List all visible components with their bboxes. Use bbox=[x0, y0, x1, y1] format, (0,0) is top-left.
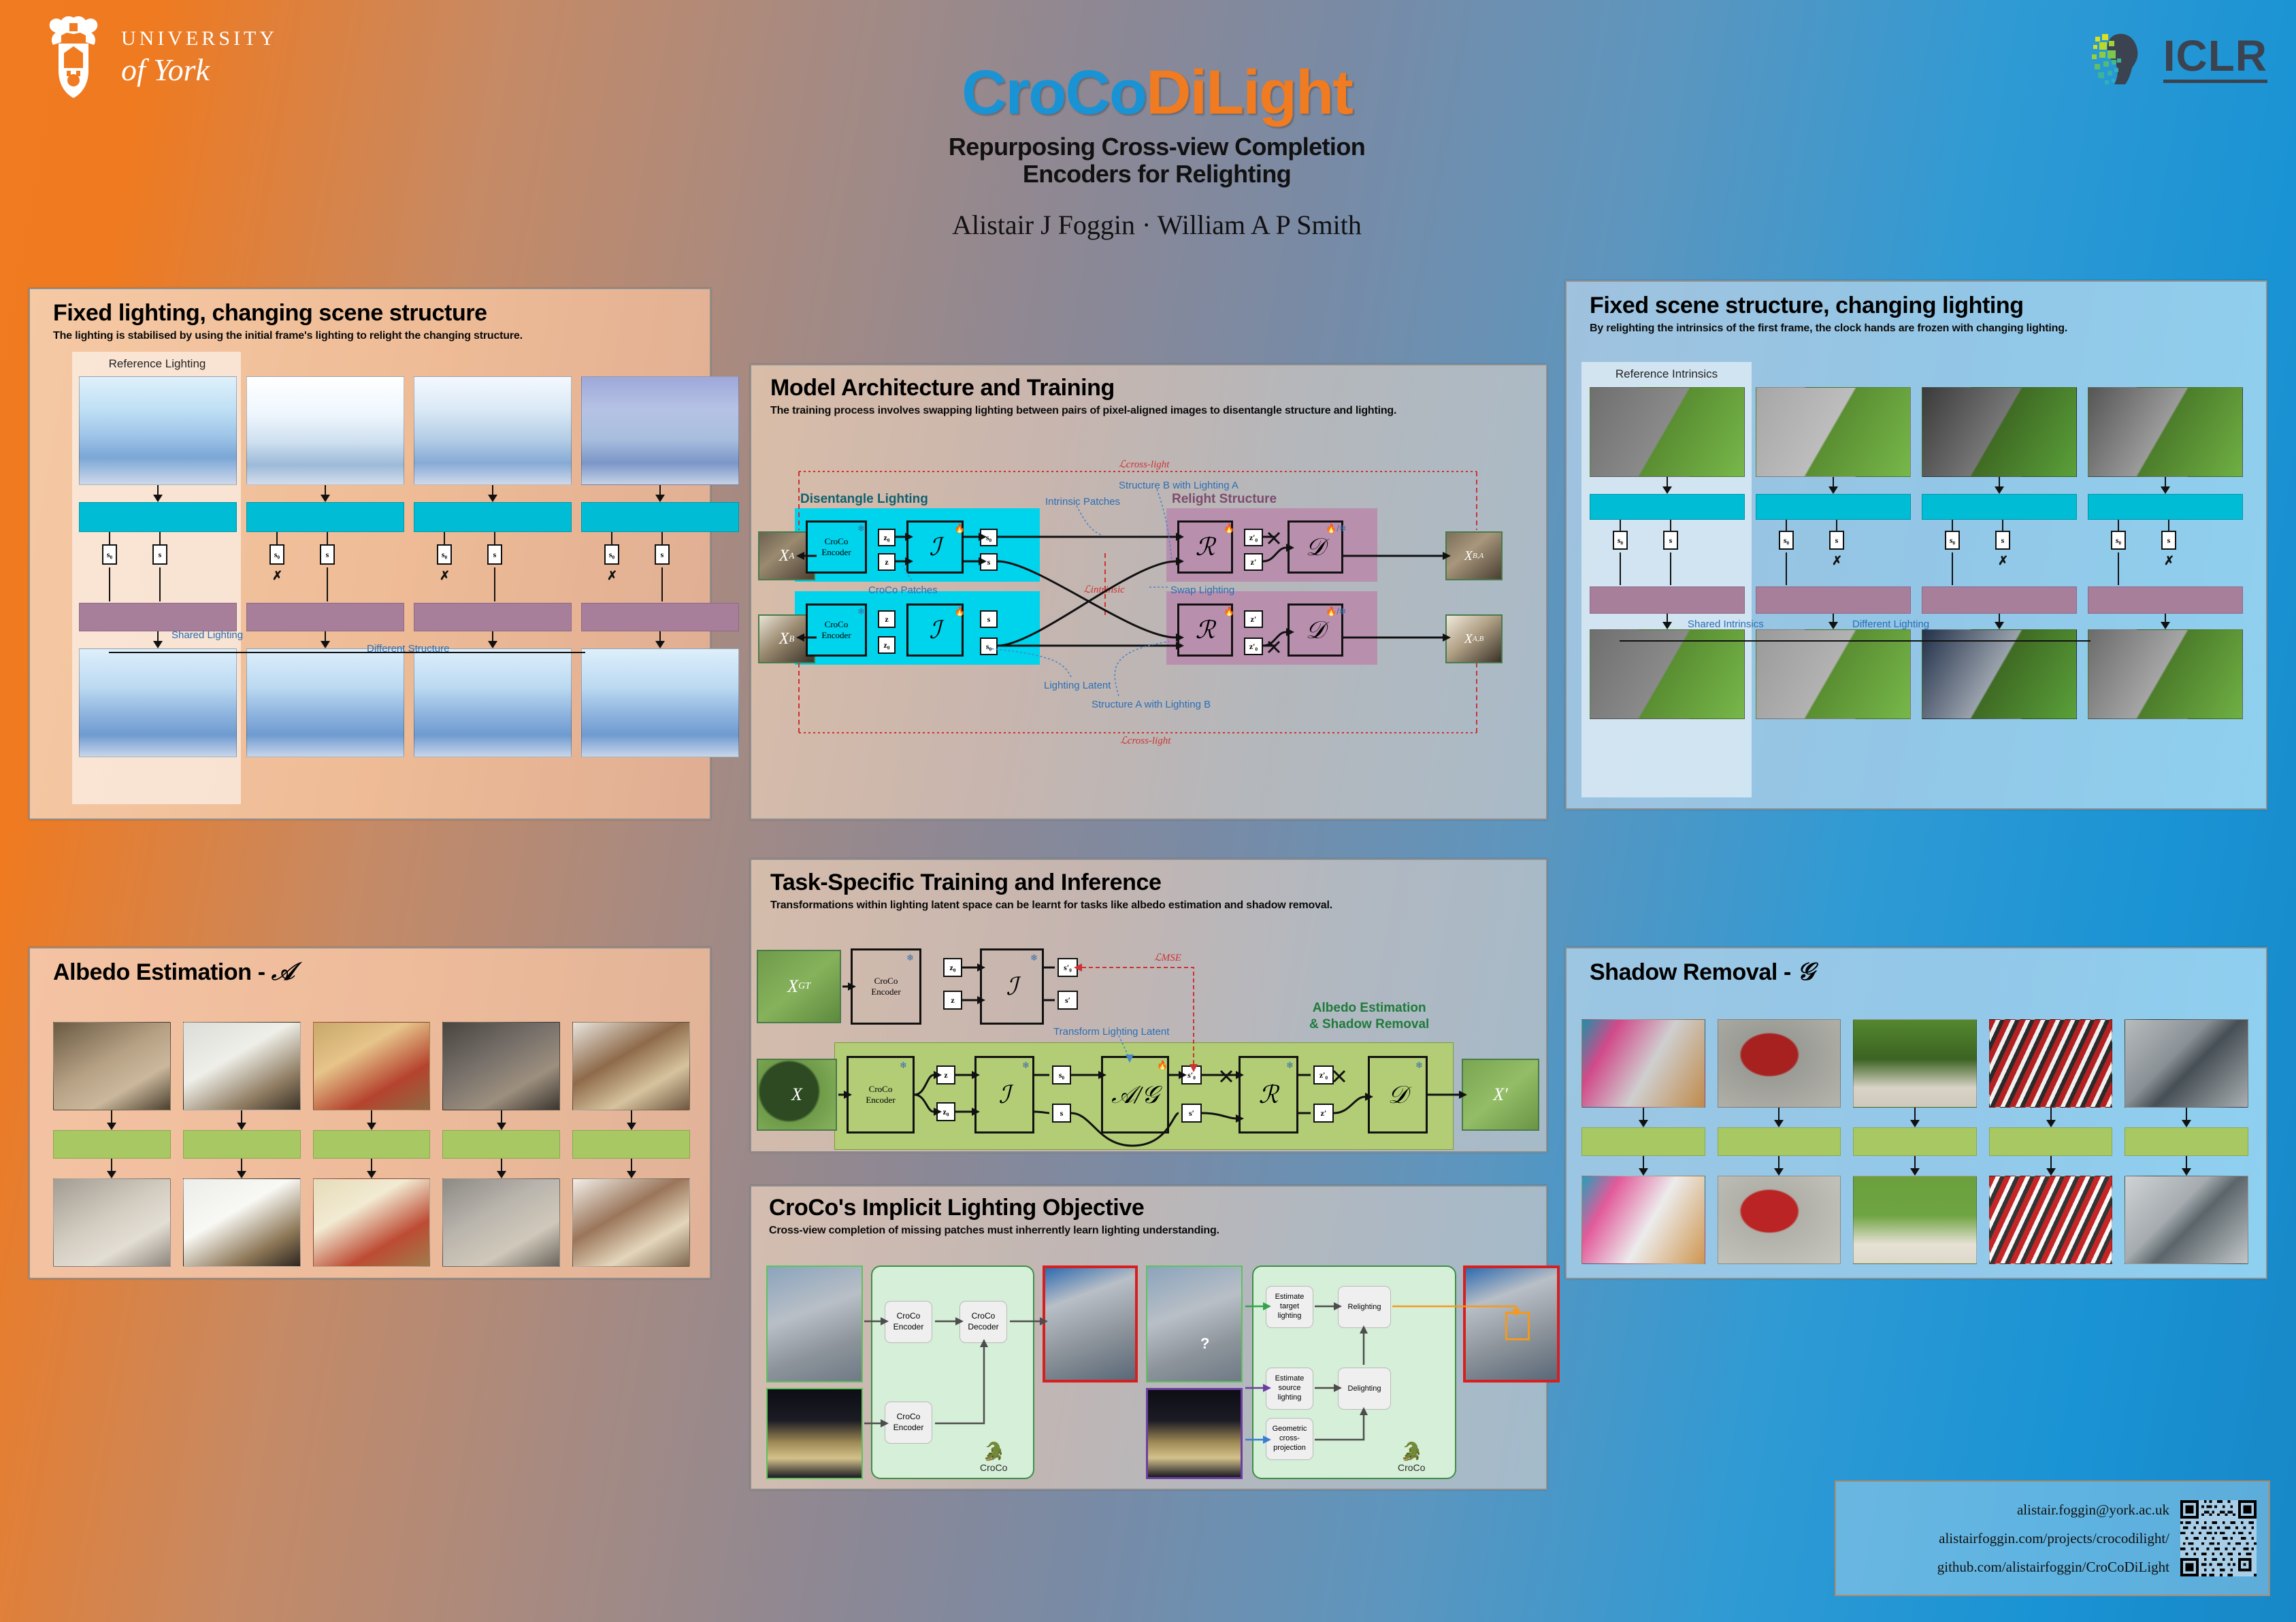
encoder-block bbox=[1756, 494, 1911, 520]
discard-marker: ✗ bbox=[1832, 554, 1842, 568]
panel-shadow-title: Shadow Removal - 𝒢 bbox=[1590, 959, 2266, 985]
input-frame-image bbox=[2088, 387, 2243, 477]
token-s0: s₀ bbox=[437, 544, 452, 565]
token-s0-bottom: s₀ bbox=[980, 638, 998, 655]
token-sprime0-task: s′₀ bbox=[1181, 1065, 1202, 1085]
albedo-input-image bbox=[572, 1022, 690, 1110]
input-image-xgt: XGT bbox=[757, 950, 841, 1023]
reference-lighting-label: Reference Lighting bbox=[79, 357, 235, 371]
token-s-top: s bbox=[980, 553, 998, 571]
label-disentangle-lighting: Disentangle Lighting bbox=[800, 492, 928, 507]
albedo-output-image bbox=[53, 1178, 171, 1267]
encoder-block bbox=[1590, 494, 1745, 520]
token-s0-task: s₀ bbox=[1052, 1065, 1071, 1085]
token-s: s bbox=[152, 544, 167, 565]
shadow-input-image bbox=[1581, 1019, 1705, 1108]
token-s: s bbox=[1829, 531, 1844, 550]
input-frame-image bbox=[1756, 387, 1911, 477]
panel-fixed-structure-title: Fixed scene structure, changing lighting bbox=[1590, 294, 2266, 318]
annotation-shared-lighting: Shared Lighting bbox=[171, 629, 243, 641]
panel-croco-title: CroCo's Implicit Lighting Objective bbox=[769, 1196, 1546, 1221]
token-s: s bbox=[655, 544, 670, 565]
output-frame-image bbox=[1756, 629, 1911, 719]
shadow-model-block bbox=[1581, 1127, 1705, 1156]
input-frame-image bbox=[1590, 387, 1745, 477]
decoder-block bbox=[2088, 586, 2243, 614]
token-s0: s₀ bbox=[102, 544, 117, 565]
shadow-model-block bbox=[2125, 1127, 2248, 1156]
annotation-structure-b-lighting-a: Structure B with Lighting A bbox=[1119, 480, 1239, 491]
shadow-output-image bbox=[1718, 1176, 1841, 1264]
shadow-input-image bbox=[1989, 1019, 2113, 1108]
trainable-icon: 🔥 bbox=[1224, 606, 1234, 617]
discard-marker: ✗ bbox=[2164, 554, 2174, 568]
panel-task-specific: Task-Specific Training and Inference Tra… bbox=[750, 859, 1547, 1153]
albedo-model-block bbox=[183, 1130, 301, 1159]
token-s0: s₀ bbox=[604, 544, 619, 565]
shadow-output-image bbox=[2125, 1176, 2248, 1264]
albedo-output-image bbox=[572, 1178, 690, 1267]
shadow-input-image bbox=[1718, 1019, 1841, 1108]
crocodile-icon: 🐊 bbox=[980, 1441, 1007, 1462]
green-label-line1: Albedo Estimation bbox=[1309, 1000, 1429, 1016]
output-frame-image bbox=[2088, 629, 2243, 719]
university-crest-icon bbox=[41, 14, 106, 101]
loss-cross-light-top: ℒcross-light bbox=[1119, 458, 1169, 471]
output-image-xba: XB,A bbox=[1445, 531, 1503, 580]
shadow-output-image bbox=[1853, 1176, 1977, 1264]
fs-column: s₀ s ✗ bbox=[1756, 387, 1911, 719]
albedo-output-image bbox=[183, 1178, 301, 1267]
title-dilight: DiLight bbox=[1146, 58, 1352, 127]
decoder-block bbox=[1922, 586, 2077, 614]
token-z-task: z bbox=[936, 1065, 955, 1085]
discard-marker: ✗ bbox=[1998, 554, 2008, 568]
university-logo: UNIVERSITY of York bbox=[41, 14, 278, 101]
box-relighting: Relighting bbox=[1338, 1286, 1391, 1328]
fs-column: s₀ s bbox=[1590, 387, 1745, 719]
input-frame-image bbox=[581, 376, 739, 485]
subtitle-line-1: Repurposing Cross-view Completion bbox=[796, 133, 1518, 161]
token-s-bottom: s bbox=[980, 610, 998, 628]
panel-fixed-structure: Fixed scene structure, changing lighting… bbox=[1565, 280, 2267, 810]
croco-completed-image-left bbox=[1043, 1265, 1138, 1383]
token-zprime0-top: z′₀ bbox=[1244, 529, 1263, 546]
output-image-xab: XA,B bbox=[1445, 614, 1503, 663]
token-zprime-task: z′ bbox=[1313, 1104, 1334, 1123]
output-frame-image bbox=[1590, 629, 1745, 719]
output-frame-image bbox=[414, 648, 572, 757]
annotation-transform-lighting-latent: Transform Lighting Latent bbox=[1053, 1026, 1169, 1038]
trainable-icon: 🔥 bbox=[954, 523, 965, 534]
croco-source-image bbox=[1146, 1388, 1243, 1479]
albedo-column bbox=[53, 1022, 171, 1267]
token-sprime-task: s′ bbox=[1181, 1104, 1202, 1123]
token-s0: s₀ bbox=[1613, 531, 1628, 550]
relit-patch-highlight bbox=[1505, 1312, 1530, 1340]
albedo-grid bbox=[53, 1022, 690, 1267]
albedo-column bbox=[313, 1022, 431, 1267]
annotation-intrinsic-patches: Intrinsic Patches bbox=[1045, 496, 1120, 508]
discard-marker: ✗ bbox=[272, 569, 282, 583]
token-zprime0-task: z′₀ bbox=[1313, 1065, 1334, 1085]
token-z0-gt: z₀ bbox=[943, 958, 962, 977]
loss-intrinsic: ℒintrinsic bbox=[1083, 583, 1125, 596]
panel-albedo-title: Albedo Estimation - 𝒜 bbox=[53, 959, 710, 985]
box-delighting: Delighting bbox=[1338, 1368, 1391, 1410]
token-z0-bottom: z₀ bbox=[878, 636, 896, 654]
fl-column: s₀ s bbox=[79, 376, 237, 757]
annotation-swap-lighting: Swap Lighting bbox=[1170, 584, 1234, 596]
panel-albedo-title-text: Albedo Estimation - bbox=[53, 959, 272, 985]
token-s0: s₀ bbox=[269, 544, 284, 565]
token-s0: s₀ bbox=[1945, 531, 1960, 550]
iclr-logo: ICLR bbox=[2091, 29, 2267, 90]
panel-albedo-title-symbol: 𝒜 bbox=[272, 958, 295, 985]
token-zprime0-bottom: z′₀ bbox=[1244, 638, 1263, 655]
university-wordmark: UNIVERSITY of York bbox=[121, 27, 278, 88]
input-frame-image bbox=[414, 376, 572, 485]
encoder-block bbox=[246, 502, 404, 532]
university-word-line1: UNIVERSITY bbox=[121, 27, 278, 50]
croco-group-left bbox=[871, 1265, 1034, 1479]
qr-code-icon[interactable] bbox=[2180, 1500, 2257, 1576]
panel-architecture-title: Model Architecture and Training bbox=[770, 376, 1546, 401]
discard-marker: ✗ bbox=[440, 569, 450, 583]
shadow-grid bbox=[1581, 1019, 2248, 1264]
input-image-x: X bbox=[757, 1059, 837, 1131]
panel-model-architecture: Model Architecture and Training The trai… bbox=[750, 364, 1547, 820]
albedo-model-block bbox=[572, 1130, 690, 1159]
panel-fixed-lighting: Fixed lighting, changing scene structure… bbox=[29, 288, 711, 820]
panel-croco-subtitle: Cross-view completion of missing patches… bbox=[769, 1225, 1546, 1237]
token-s0-top: s₀ bbox=[980, 529, 998, 546]
output-frame-image bbox=[246, 648, 404, 757]
trainable-icon: 🔥 bbox=[1224, 523, 1234, 534]
albedo-model-block bbox=[53, 1130, 171, 1159]
box-geometric-cross-projection: Geometric cross-projection bbox=[1266, 1418, 1313, 1460]
iclr-head-mosaic-icon bbox=[2091, 29, 2152, 90]
croco-brand-right: 🐊 CroCo bbox=[1398, 1441, 1425, 1473]
annotation-structure-a-lighting-b: Structure A with Lighting B bbox=[1092, 699, 1211, 710]
loss-cross-light-bottom: ℒcross-light bbox=[1120, 734, 1170, 747]
croco-reference-image bbox=[766, 1388, 863, 1479]
reference-intrinsics-label: Reference Intrinsics bbox=[1587, 367, 1746, 381]
decoder-block bbox=[1590, 586, 1745, 614]
panel-task-specific-subtitle: Transformations within lighting latent s… bbox=[770, 899, 1546, 912]
poster-title: CroCoDiLight bbox=[796, 61, 1518, 124]
iclr-wordmark: ICLR bbox=[2163, 35, 2267, 83]
encoder-block bbox=[2088, 494, 2243, 520]
contact-email[interactable]: alistair.foggin@york.ac.uk bbox=[1848, 1495, 2169, 1524]
panel-fixed-structure-subtitle: By relighting the intrinsics of the firs… bbox=[1590, 322, 2266, 335]
trainable-icon: 🔥 bbox=[1157, 1060, 1168, 1071]
panel-croco-objective: CroCo's Implicit Lighting Objective Cros… bbox=[750, 1185, 1547, 1490]
frozen-icon: ❄ bbox=[1022, 1060, 1030, 1071]
input-frame-image bbox=[1922, 387, 2077, 477]
fs-column: s₀ s ✗ bbox=[2088, 387, 2243, 719]
token-s0: s₀ bbox=[2111, 531, 2126, 550]
albedo-column bbox=[572, 1022, 690, 1267]
token-s: s bbox=[320, 544, 335, 565]
crocodile-icon: 🐊 bbox=[1398, 1441, 1425, 1462]
decoder-block bbox=[581, 603, 739, 631]
token-s: s bbox=[1995, 531, 2010, 550]
token-sprime0-gt: s′₀ bbox=[1057, 958, 1078, 977]
output-frame-image bbox=[581, 648, 739, 757]
title-croco: CroCo bbox=[962, 58, 1146, 127]
decoder-block bbox=[79, 603, 237, 631]
annotation-different-structure: Different Structure bbox=[367, 643, 449, 655]
panel-task-specific-title: Task-Specific Training and Inference bbox=[770, 871, 1546, 895]
croco-brand-label: CroCo bbox=[980, 1462, 1007, 1473]
shadow-output-image bbox=[1581, 1176, 1705, 1264]
token-z0-task: z₀ bbox=[936, 1102, 955, 1121]
annotation-croco-patches: CroCo Patches bbox=[868, 584, 938, 596]
croco-encoder-left-bottom: CroCoEncoder bbox=[885, 1402, 932, 1444]
croco-encoder-left-top: CroCoEncoder bbox=[885, 1301, 932, 1343]
shadow-column bbox=[1581, 1019, 1705, 1264]
output-image-xprime: X′ bbox=[1462, 1059, 1539, 1131]
shadow-output-image bbox=[1989, 1176, 2113, 1264]
token-zprime-top: z′ bbox=[1244, 553, 1263, 571]
albedo-output-image bbox=[313, 1178, 431, 1267]
encoder-block bbox=[1922, 494, 2077, 520]
contact-box: alistair.foggin@york.ac.uk alistairfoggi… bbox=[1835, 1480, 2270, 1596]
shadow-column bbox=[1989, 1019, 2113, 1264]
shadow-model-block bbox=[1853, 1127, 1977, 1156]
albedo-input-image bbox=[442, 1022, 560, 1110]
discard-marker: ✗ bbox=[607, 569, 617, 583]
token-s: s bbox=[2161, 531, 2176, 550]
croco-brand-label: CroCo bbox=[1398, 1462, 1425, 1473]
frozen-icon: ❄ bbox=[906, 953, 914, 963]
panel-architecture-subtitle: The training process involves swapping l… bbox=[770, 405, 1546, 417]
shadow-column bbox=[2125, 1019, 2248, 1264]
input-frame-image bbox=[79, 376, 237, 485]
contact-github-url[interactable]: github.com/alistairfoggin/CroCoDiLight bbox=[1848, 1553, 2169, 1581]
frozen-icon: ❄ bbox=[1415, 1060, 1423, 1071]
croco-decoder-left: CroCoDecoder bbox=[960, 1301, 1007, 1343]
encoder-block bbox=[79, 502, 237, 532]
trainable-frozen-icon: 🔥/❄ bbox=[1326, 606, 1347, 617]
albedo-output-image bbox=[442, 1178, 560, 1267]
fl-column: s₀ s ✗ bbox=[246, 376, 404, 757]
panel-shadow-title-symbol: 𝒢 bbox=[1797, 958, 1814, 985]
annotation-lighting-latent: Lighting Latent bbox=[1044, 680, 1111, 691]
token-s-task: s bbox=[1052, 1104, 1071, 1123]
query-question-mark: ? bbox=[1200, 1335, 1209, 1353]
output-frame-image bbox=[1922, 629, 2077, 719]
trainable-frozen-icon: 🔥/❄ bbox=[1326, 523, 1347, 534]
poster-authors: Alistair J Foggin · William A P Smith bbox=[796, 209, 1518, 241]
croco-masked-image-top bbox=[766, 1265, 863, 1383]
frozen-icon: ❄ bbox=[857, 606, 865, 617]
frozen-icon: ❄ bbox=[857, 523, 865, 534]
token-z0-top: z₀ bbox=[878, 529, 896, 546]
panel-fixed-lighting-subtitle: The lighting is stabilised by using the … bbox=[53, 330, 710, 342]
green-label: Albedo Estimation & Shadow Removal bbox=[1309, 1000, 1429, 1033]
annotation-shared-intrinsics: Shared Intrinsics bbox=[1688, 618, 1764, 630]
token-s0: s₀ bbox=[1779, 531, 1794, 550]
subtitle-line-2: Encoders for Relighting bbox=[796, 161, 1518, 188]
shadow-column bbox=[1718, 1019, 1841, 1264]
contact-lines: alistair.foggin@york.ac.uk alistairfoggi… bbox=[1848, 1495, 2169, 1581]
token-s: s bbox=[487, 544, 502, 565]
shadow-model-block bbox=[1989, 1127, 2113, 1156]
panel-fixed-lighting-title: Fixed lighting, changing scene structure bbox=[53, 301, 710, 326]
albedo-model-block bbox=[442, 1130, 560, 1159]
encoder-block bbox=[414, 502, 572, 532]
albedo-column bbox=[442, 1022, 560, 1267]
shadow-column bbox=[1853, 1019, 1977, 1264]
box-estimate-target-lighting: Estimate target lighting bbox=[1266, 1286, 1313, 1328]
croco-brand-left: 🐊 CroCo bbox=[980, 1441, 1007, 1473]
shadow-input-image bbox=[2125, 1019, 2248, 1108]
frozen-icon: ❄ bbox=[1030, 953, 1038, 963]
encoder-block bbox=[581, 502, 739, 532]
albedo-model-block bbox=[313, 1130, 431, 1159]
loss-mse: ℒMSE bbox=[1154, 951, 1181, 964]
shadow-input-image bbox=[1853, 1019, 1977, 1108]
frozen-icon: ❄ bbox=[900, 1060, 907, 1071]
green-label-line2: & Shadow Removal bbox=[1309, 1016, 1429, 1033]
albedo-input-image bbox=[53, 1022, 171, 1110]
albedo-column bbox=[183, 1022, 301, 1267]
token-z-bottom: z bbox=[878, 610, 896, 628]
fs-column: s₀ s ✗ bbox=[1922, 387, 2077, 719]
label-relight-structure: Relight Structure bbox=[1172, 492, 1277, 507]
panel-shadow-title-text: Shadow Removal - bbox=[1590, 959, 1797, 985]
decoder-block bbox=[246, 603, 404, 631]
croco-query-image bbox=[1146, 1265, 1243, 1383]
university-word-line2: of York bbox=[121, 52, 278, 88]
poster-header: CroCoDiLight Repurposing Cross-view Comp… bbox=[796, 61, 1518, 241]
token-s: s bbox=[1663, 531, 1678, 550]
box-estimate-source-lighting: Estimate source lighting bbox=[1266, 1368, 1313, 1410]
panel-shadow-removal: Shadow Removal - 𝒢 bbox=[1565, 947, 2267, 1279]
panel-albedo-estimation: Albedo Estimation - 𝒜 bbox=[29, 947, 711, 1279]
albedo-input-image bbox=[183, 1022, 301, 1110]
frozen-icon: ❄ bbox=[1286, 1060, 1294, 1071]
annotation-different-lighting: Different Lighting bbox=[1852, 618, 1929, 630]
token-z-top: z bbox=[878, 553, 896, 571]
token-z-gt: z bbox=[943, 991, 962, 1010]
decoder-block bbox=[414, 603, 572, 631]
decoder-block bbox=[1756, 586, 1911, 614]
token-sprime-gt: s′ bbox=[1057, 991, 1078, 1010]
poster-subtitle: Repurposing Cross-view Completion Encode… bbox=[796, 133, 1518, 188]
input-frame-image bbox=[246, 376, 404, 485]
token-zprime-bottom: z′ bbox=[1244, 610, 1263, 628]
albedo-input-image bbox=[313, 1022, 431, 1110]
shadow-model-block bbox=[1718, 1127, 1841, 1156]
fl-column: s₀ s ✗ bbox=[581, 376, 739, 757]
output-frame-image bbox=[79, 648, 237, 757]
trainable-icon: 🔥 bbox=[954, 606, 965, 617]
fl-column: s₀ s ✗ bbox=[414, 376, 572, 757]
contact-project-url[interactable]: alistairfoggin.com/projects/crocodilight… bbox=[1848, 1524, 2169, 1553]
